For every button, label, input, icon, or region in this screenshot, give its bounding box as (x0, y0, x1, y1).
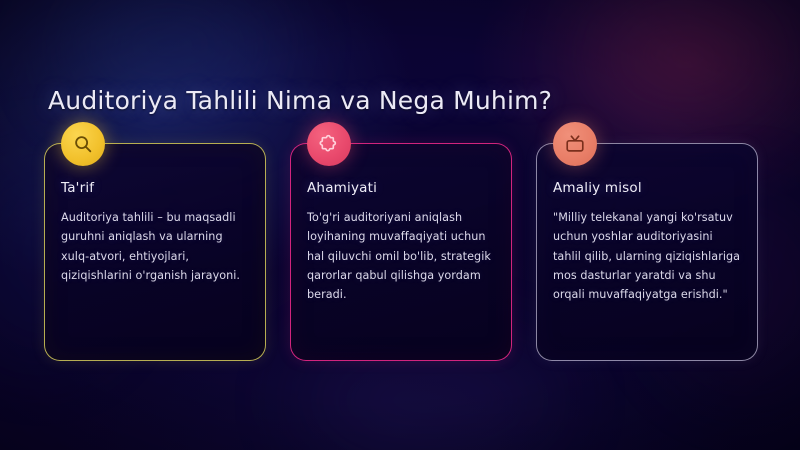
slide-canvas: Auditoriya Tahlili Nima va Nega Muhim? T… (0, 0, 800, 450)
card-tarif[interactable]: Ta'rif Auditoriya tahlili – bu maqsadli … (44, 143, 266, 361)
card-row: Ta'rif Auditoriya tahlili – bu maqsadli … (44, 143, 758, 361)
card-body: "Milliy telekanal yangi ko'rsatuv uchun … (553, 208, 741, 304)
card-ahamiyati[interactable]: Ahamiyati To'g'ri auditoriyani aniqlash … (290, 143, 512, 361)
search-icon (61, 122, 105, 166)
card-title: Amaliy misol (553, 180, 741, 196)
card-title: Ta'rif (61, 180, 249, 196)
card-title: Ahamiyati (307, 180, 495, 196)
puzzle-piece-icon (307, 122, 351, 166)
card-body: Auditoriya tahlili – bu maqsadli guruhni… (61, 208, 249, 285)
page-title: Auditoriya Tahlili Nima va Nega Muhim? (48, 86, 552, 115)
card-amaliy-misol[interactable]: Amaliy misol "Milliy telekanal yangi ko'… (536, 143, 758, 361)
card-body: To'g'ri auditoriyani aniqlash loyihaning… (307, 208, 495, 304)
television-icon (553, 122, 597, 166)
